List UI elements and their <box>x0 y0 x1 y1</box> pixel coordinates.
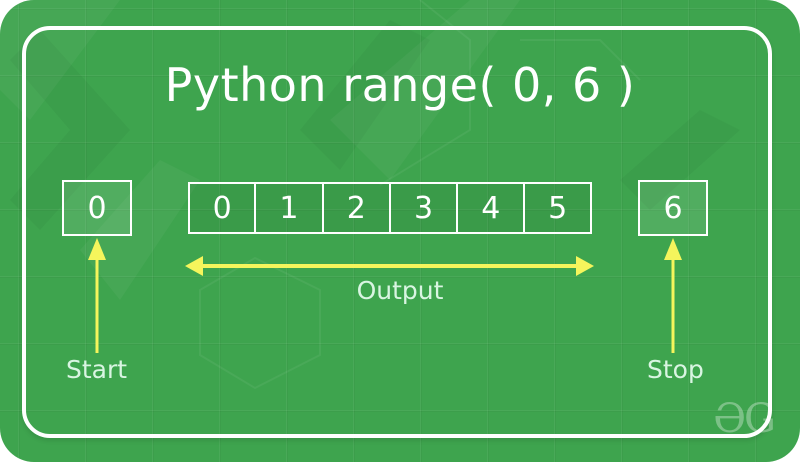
stop-value-box: 6 <box>638 180 708 236</box>
green-card: Python range( 0, 6 ) 0 0 1 2 3 4 5 6 <box>0 0 800 462</box>
diagram-canvas: Python range( 0, 6 ) 0 0 1 2 3 4 5 6 <box>0 0 800 462</box>
start-value-box: 0 <box>62 180 132 236</box>
stop-value: 6 <box>663 191 682 226</box>
output-cell: 2 <box>323 182 390 234</box>
output-cell: 1 <box>255 182 322 234</box>
stop-label: Stop <box>647 355 704 385</box>
geeksforgeeks-watermark: ƏG <box>713 398 774 440</box>
output-cell: 5 <box>524 182 591 234</box>
start-value: 0 <box>87 191 106 226</box>
output-cell: 3 <box>390 182 457 234</box>
start-label: Start <box>66 355 127 385</box>
output-cell: 4 <box>457 182 524 234</box>
output-label: Output <box>0 276 800 306</box>
output-array: 0 1 2 3 4 5 <box>188 182 592 234</box>
page-title: Python range( 0, 6 ) <box>0 56 800 114</box>
output-cell: 0 <box>188 182 255 234</box>
